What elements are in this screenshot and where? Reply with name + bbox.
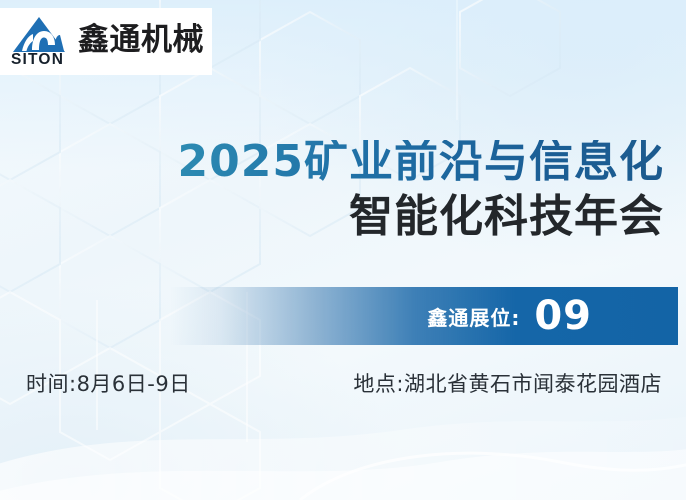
booth-label: 鑫通展位: [427, 302, 520, 331]
brand-logo-plate: SITON 鑫通机械 [0, 8, 212, 75]
event-poster: SITON 鑫通机械 2025矿业前沿与信息化 智能化科技年会 鑫通展位: 09… [0, 0, 686, 500]
event-venue: 地点:湖北省黄石市闻泰花园酒店 [353, 368, 662, 398]
booth-number: 09 [534, 296, 592, 336]
headline-block: 2025矿业前沿与信息化 智能化科技年会 [0, 140, 664, 244]
siton-mountain-logo-icon: SITON [8, 14, 72, 70]
brand-latin-name: SITON [11, 52, 64, 68]
background-pattern [0, 0, 686, 500]
brand-chinese-name: 鑫通机械 [78, 25, 204, 56]
event-date: 时间:8月6日-9日 [26, 368, 191, 398]
booth-banner: 鑫通展位: 09 [170, 287, 678, 345]
headline-line-2: 智能化科技年会 [0, 195, 664, 244]
event-info-row: 时间:8月6日-9日 地点:湖北省黄石市闻泰花园酒店 [0, 368, 686, 398]
headline-line-1: 2025矿业前沿与信息化 [0, 140, 664, 189]
